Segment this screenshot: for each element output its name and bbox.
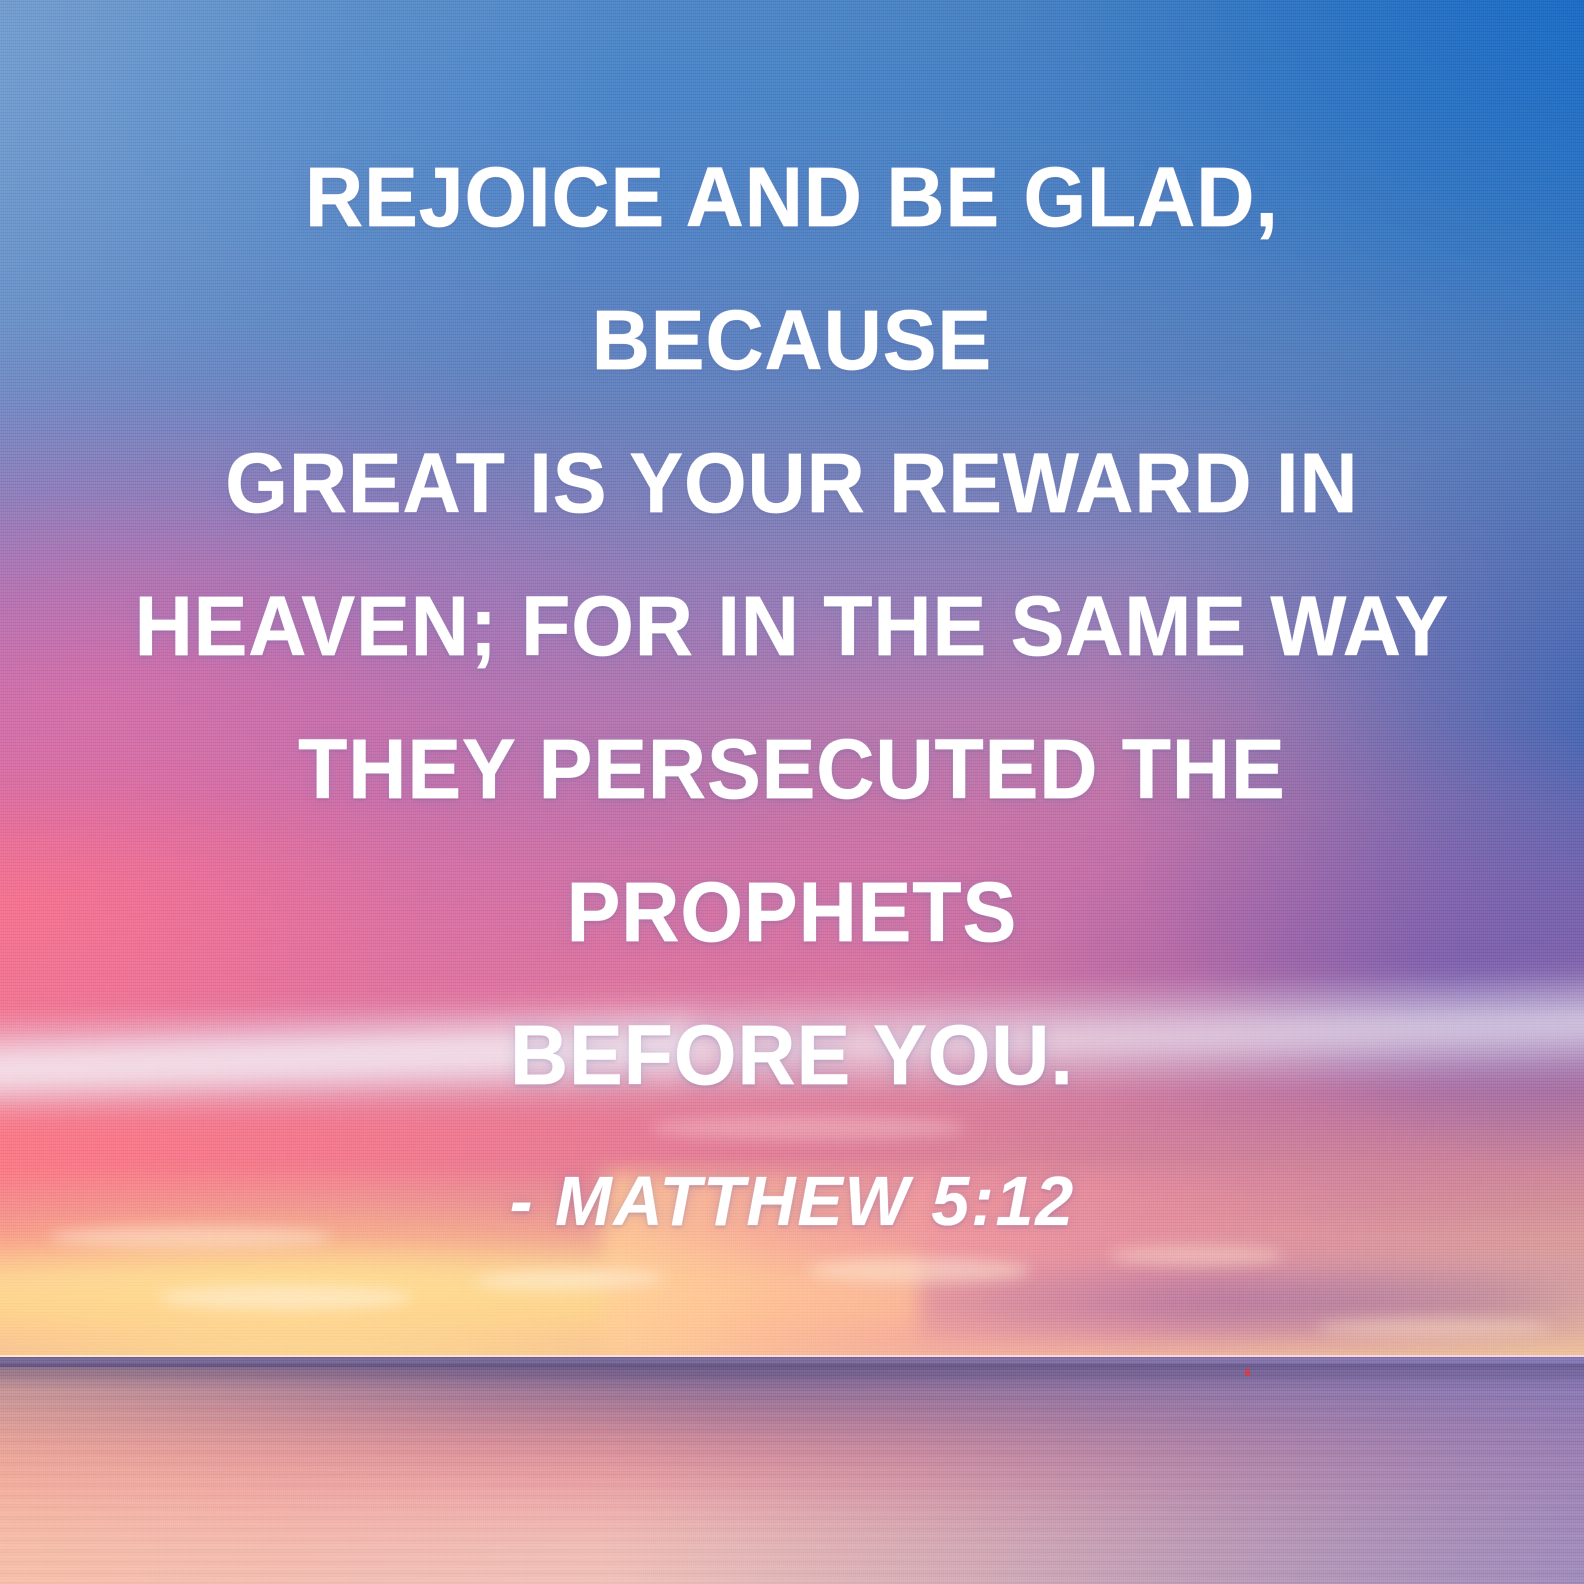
verse-line: HEAVEN; FOR IN THE SAME WAY xyxy=(124,555,1461,698)
text-overlay: REJOICE AND BE GLAD, BECAUSE GREAT IS YO… xyxy=(0,0,1584,1584)
verse-attribution: - MATTHEW 5:12 xyxy=(509,1161,1074,1241)
quote-image: REJOICE AND BE GLAD, BECAUSE GREAT IS YO… xyxy=(0,0,1584,1584)
verse-line: GREAT IS YOUR REWARD IN xyxy=(124,412,1461,555)
verse-line: BEFORE YOU. xyxy=(124,984,1461,1127)
verse-line: REJOICE AND BE GLAD, BECAUSE xyxy=(124,126,1461,412)
verse-line: THEY PERSECUTED THE PROPHETS xyxy=(124,698,1461,984)
verse-text: REJOICE AND BE GLAD, BECAUSE GREAT IS YO… xyxy=(124,126,1461,1127)
